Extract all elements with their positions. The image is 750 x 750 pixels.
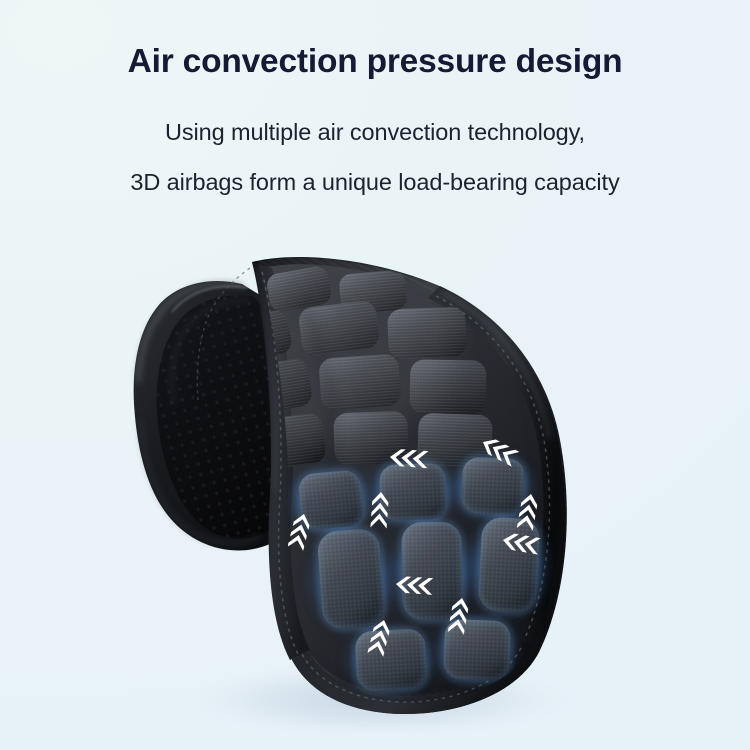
airbag-cell-glow: [379, 463, 447, 521]
headline-block: Air convection pressure design Using mul…: [0, 0, 750, 196]
airbag-cell-glow: [317, 528, 386, 630]
subtitle-line-1: Using multiple air convection technology…: [0, 81, 750, 146]
subtitle-line-2: 3D airbags form a unique load-bearing ca…: [0, 146, 750, 196]
page-title: Air convection pressure design: [0, 0, 750, 81]
airbag-cell-glow: [478, 517, 541, 614]
airbag-cell-glow: [298, 469, 365, 530]
product-feature-banner: Air convection pressure design Using mul…: [0, 0, 750, 750]
airbag-cell-glow: [354, 628, 427, 692]
airbag-cell-glow: [443, 619, 511, 681]
airbag-cell-glow: [461, 457, 525, 515]
